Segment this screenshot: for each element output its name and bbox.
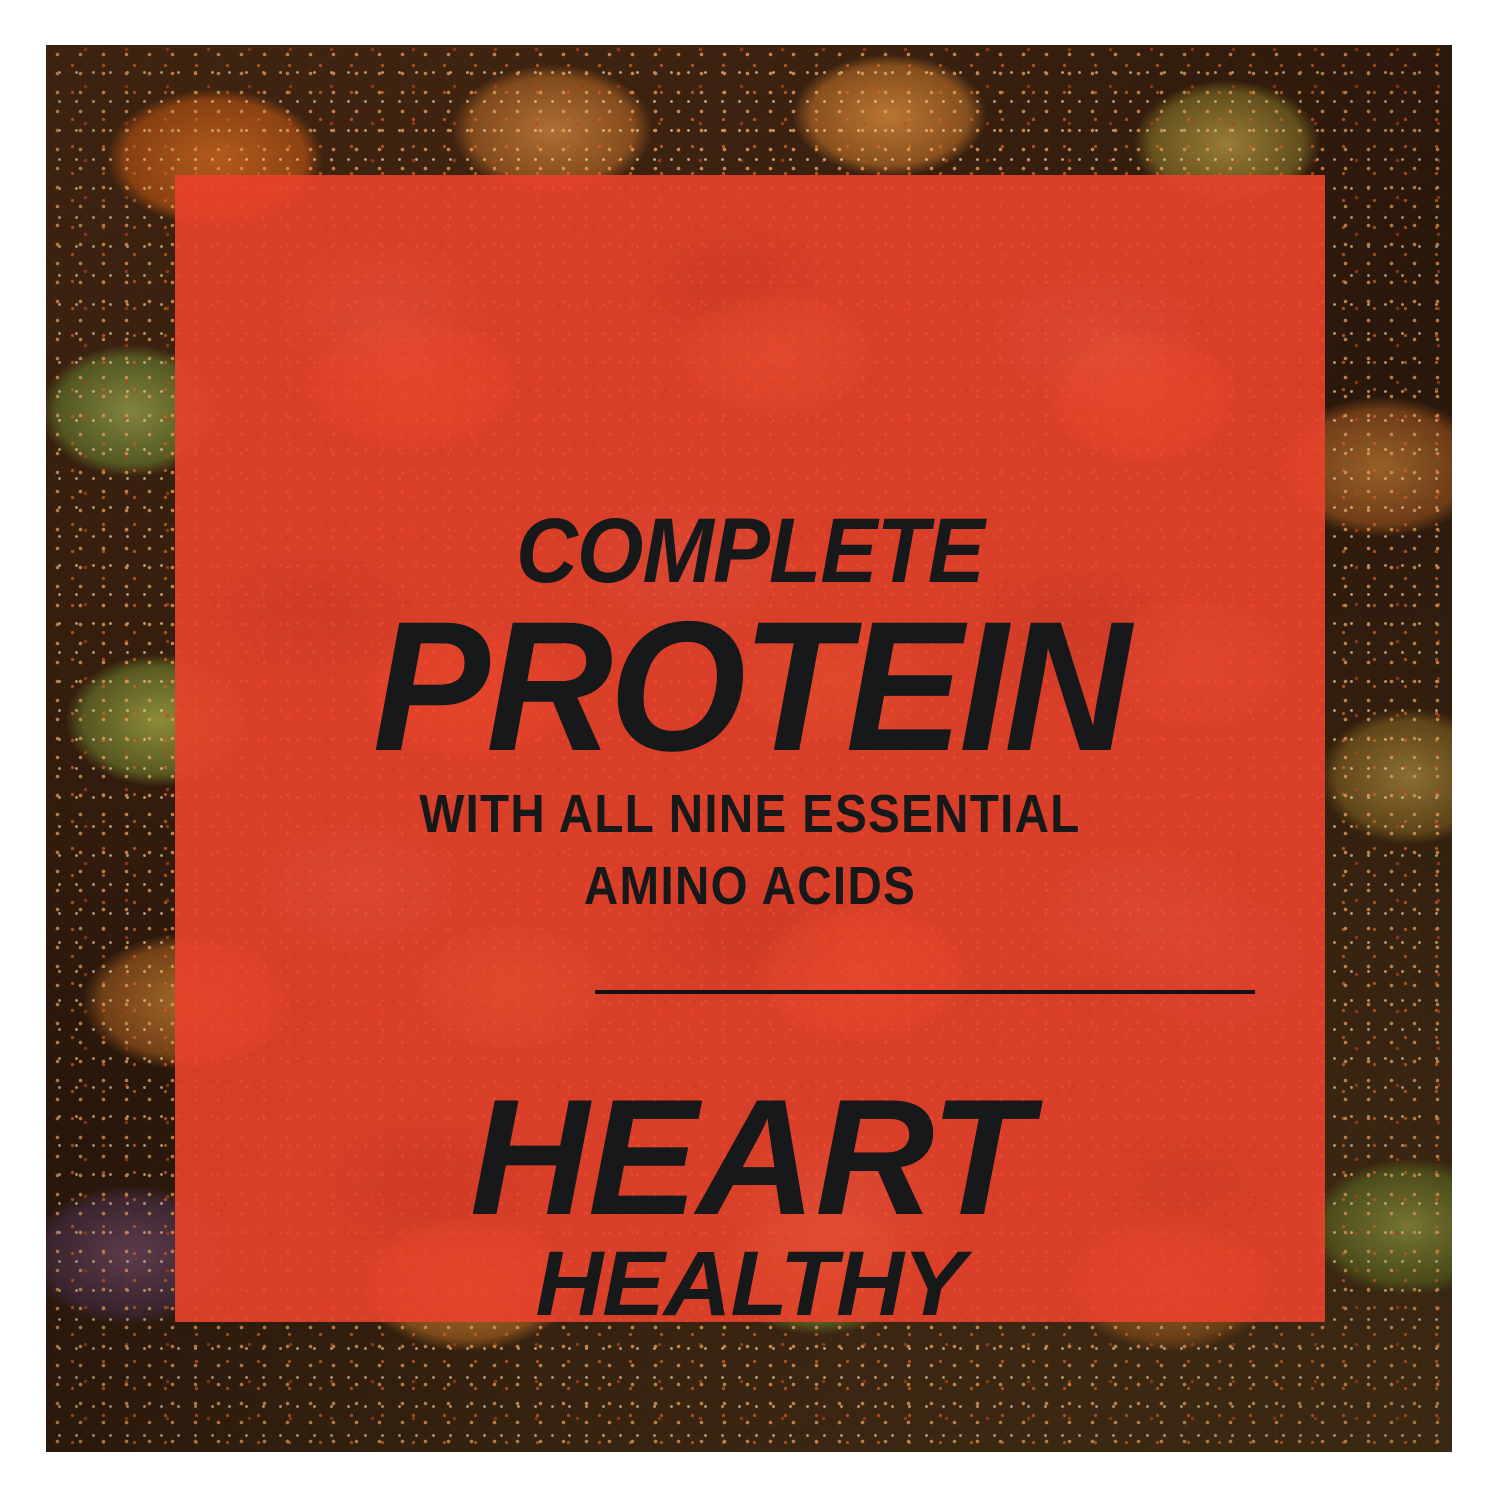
claim-sub: HEALTHY bbox=[175, 1238, 1325, 1322]
image-canvas: COMPLETE PROTEIN WITH ALL NINE ESSENTIAL… bbox=[0, 0, 1500, 1500]
subhead-line-1: WITH ALL NINE ESSENTIAL bbox=[244, 787, 1256, 841]
headline-main: PROTEIN bbox=[204, 595, 1297, 780]
subhead-line-2: AMINO ACIDS bbox=[244, 859, 1256, 913]
panel-content: COMPLETE PROTEIN WITH ALL NINE ESSENTIAL… bbox=[175, 175, 1325, 1322]
red-overlay-panel: COMPLETE PROTEIN WITH ALL NINE ESSENTIAL… bbox=[175, 175, 1325, 1322]
horizontal-divider bbox=[595, 990, 1255, 994]
claim-main: HEART bbox=[175, 1075, 1325, 1240]
